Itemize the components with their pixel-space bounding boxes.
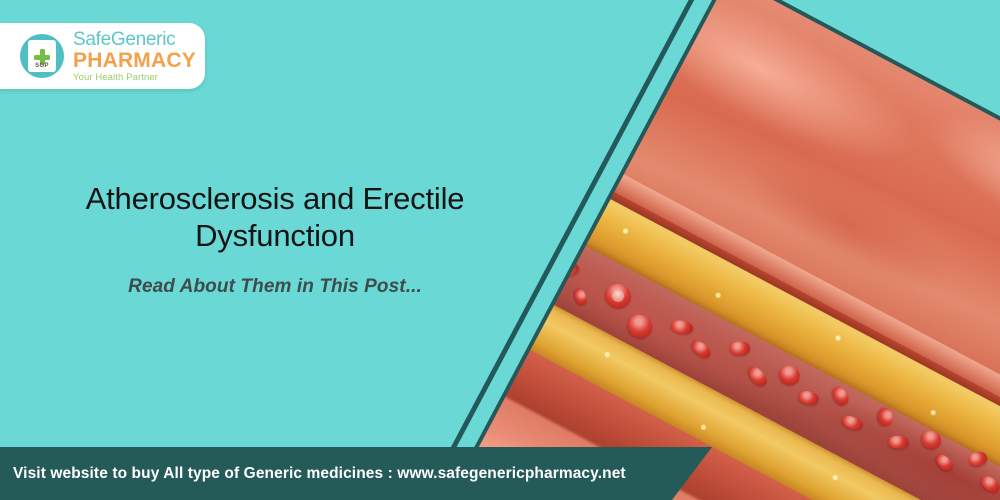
logo-mark-plate: SGP: [28, 40, 56, 72]
red-blood-cell: [560, 261, 580, 278]
artery-outer-tissue-top: [564, 0, 1000, 497]
artery-illustration-inner: [466, 0, 1000, 500]
red-blood-cell: [933, 452, 955, 474]
red-blood-cell: [797, 389, 820, 406]
red-blood-cell: [918, 428, 944, 453]
brand-tagline: Your Health Partner: [73, 73, 196, 83]
brand-logo-card[interactable]: SGP SafeGeneric PHARMACY Your Health Par…: [0, 23, 205, 89]
red-blood-cell: [978, 473, 1000, 495]
red-blood-cell: [878, 408, 893, 426]
red-blood-cell: [967, 450, 988, 467]
footer-website-text[interactable]: Visit website to buy All type of Generic…: [0, 465, 626, 483]
red-blood-cell: [840, 414, 864, 432]
red-blood-cell: [888, 435, 908, 449]
brand-line-2: PHARMACY: [73, 50, 196, 71]
red-blood-cell: [670, 319, 694, 336]
pharmacy-cross-icon: SGP: [20, 34, 64, 78]
footer-ribbon: Visit website to buy All type of Generic…: [0, 447, 712, 500]
brand-line-1: SafeGeneric: [73, 30, 196, 49]
red-blood-cell: [830, 384, 851, 407]
hero-subtitle: Read About Them in This Post...: [40, 276, 510, 298]
promo-banner: SGP SafeGeneric PHARMACY Your Health Par…: [0, 0, 1000, 500]
red-blood-cell: [573, 288, 589, 308]
brand-wordmark: SafeGeneric PHARMACY Your Health Partner: [73, 30, 196, 83]
red-blood-cell: [745, 364, 769, 389]
artery-illustration: [461, 0, 1000, 500]
red-blood-cell: [729, 341, 749, 356]
page-title: Atherosclerosis and Erectile Dysfunction: [40, 180, 510, 254]
red-blood-cell: [689, 338, 713, 361]
red-blood-cell: [776, 361, 803, 388]
hero-text-block: Atherosclerosis and Erectile Dysfunction…: [40, 180, 510, 298]
red-blood-cell: [623, 310, 656, 342]
artwork-outline-frame: [436, 0, 1000, 500]
logo-mark-badge-text: SGP: [28, 63, 56, 69]
artery-intima-highlight: [563, 148, 1000, 497]
red-blood-cell: [601, 279, 635, 312]
